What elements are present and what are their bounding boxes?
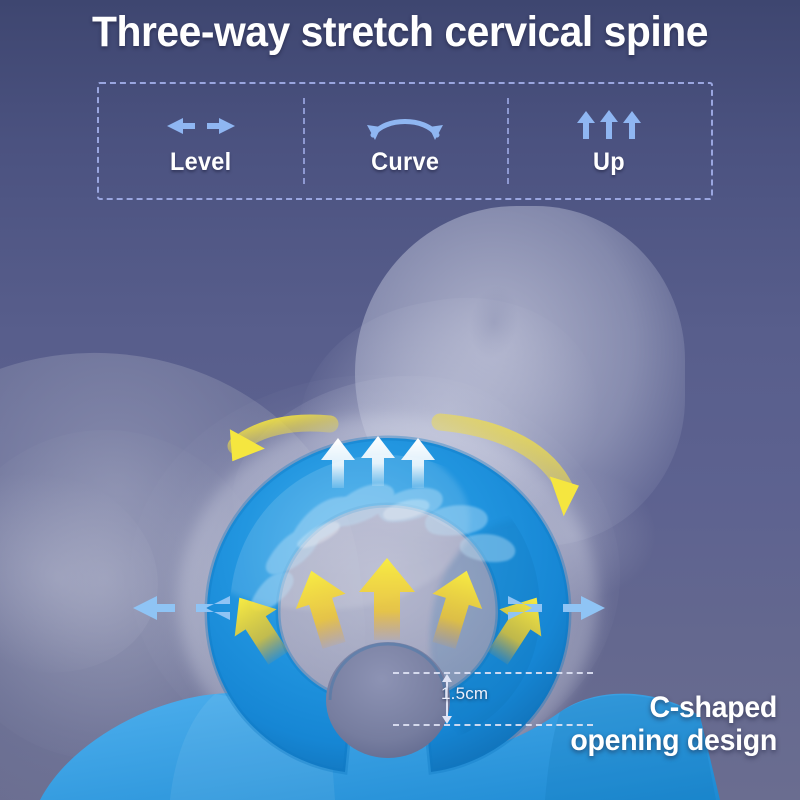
feature-curve-label: Curve [371, 148, 439, 177]
page-title: Three-way stretch cervical spine [20, 8, 780, 57]
measurement-label: 1.5cm [441, 684, 488, 704]
yellow-curved-arrow-right [440, 422, 580, 517]
pillow-opening-region [278, 505, 498, 800]
feature-curve[interactable]: Curve [303, 84, 507, 198]
yellow-fan-arrows [218, 558, 557, 672]
white-up-arrow-2 [361, 436, 395, 486]
caption-line-2: opening design [570, 724, 777, 758]
product-marketing-image: Three-way stretch cervical spine Level [0, 0, 800, 800]
light-blue-left-arrow-outer [133, 596, 175, 620]
light-blue-left-arrow-inner [196, 596, 230, 620]
double-horizontal-arrows-icon [153, 106, 249, 146]
light-blue-left-arrows [133, 596, 230, 620]
curved-double-arrow-icon [357, 106, 453, 146]
feature-level-label: Level [170, 148, 232, 177]
pillow-base-highlight [170, 694, 335, 800]
vertebrae-highlights [297, 499, 429, 548]
light-blue-right-arrow-inner [508, 596, 542, 620]
caption-c-shaped-opening: C-shaped opening design [570, 691, 777, 758]
light-blue-right-arrow-outer [563, 596, 605, 620]
yellow-fan-arrow-1 [218, 584, 299, 672]
feature-box: Level Curve [97, 82, 713, 200]
feature-level[interactable]: Level [99, 84, 303, 198]
head-silhouette [355, 206, 685, 546]
caption-line-1: C-shaped [570, 691, 777, 725]
cervical-vertebrae-graphic [251, 484, 515, 611]
jaw-silhouette [281, 276, 618, 564]
feature-up[interactable]: Up [507, 84, 711, 198]
white-up-arrow-3 [401, 438, 435, 488]
yellow-fan-arrow-3 [359, 558, 415, 640]
ear-silhouette [505, 470, 655, 600]
measure-line-top [393, 672, 593, 674]
white-up-arrow-1 [321, 438, 355, 488]
arm-silhouette [0, 436, 185, 703]
torso-silhouette [0, 326, 383, 800]
shoulder-silhouette [0, 430, 270, 760]
yellow-fan-arrow-5 [476, 584, 557, 672]
yellow-fan-arrow-4 [419, 563, 492, 653]
triple-up-arrows-icon [569, 106, 649, 146]
yellow-curved-arrow-left [228, 423, 330, 461]
white-up-arrows [321, 436, 435, 488]
ear-detail-shadow [464, 281, 524, 363]
yellow-fan-arrow-2 [286, 563, 359, 653]
measurement-callout: 1.5cm [393, 672, 593, 734]
feature-up-label: Up [593, 148, 625, 177]
measure-line-bottom [393, 724, 593, 726]
pillow-sheen [170, 430, 470, 610]
light-blue-right-arrows [508, 596, 605, 620]
neck-silhouette [211, 347, 548, 604]
